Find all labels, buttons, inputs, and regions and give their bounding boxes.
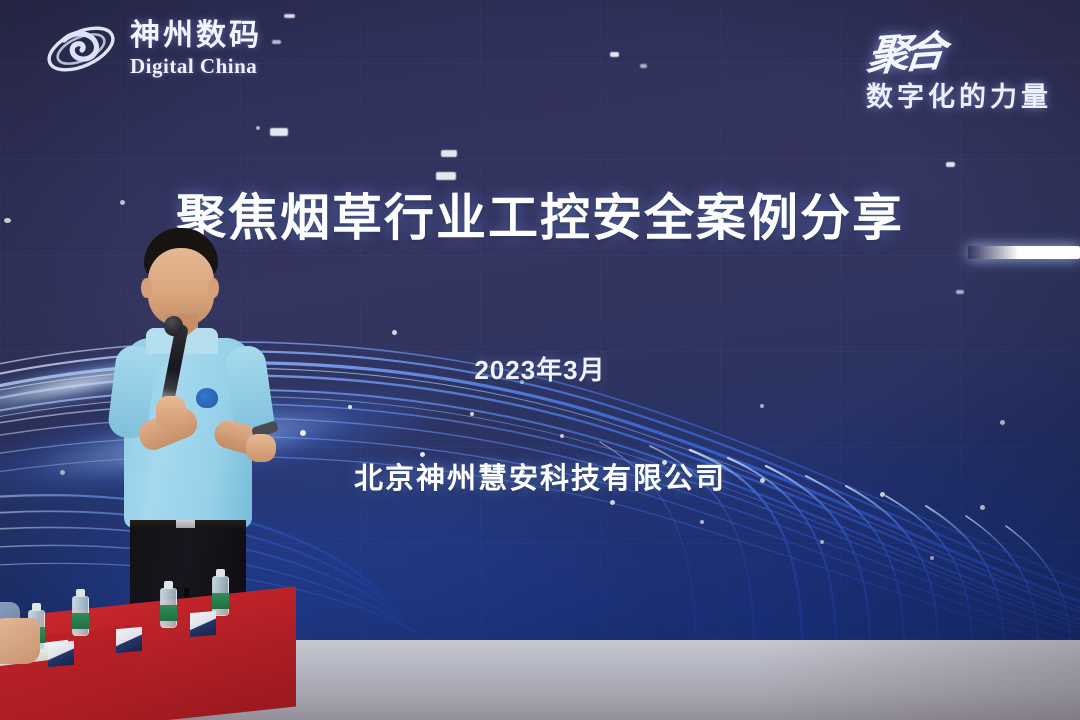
speaker-hand-right: [246, 434, 276, 462]
foreground-table: [0, 560, 294, 720]
decorative-streak: [968, 246, 1080, 259]
digital-china-logo: 神州数码 Digital China: [44, 18, 262, 80]
brand-name-cn: 神州数码: [130, 21, 262, 51]
bottle-cap: [216, 569, 225, 577]
bottle-label: [212, 593, 229, 609]
speaker-ear-right: [208, 278, 219, 298]
name-card: [190, 611, 216, 637]
attendee-hand: [0, 618, 40, 664]
speaker-ear-left: [141, 278, 152, 298]
water-bottle: [72, 596, 89, 636]
speaker-hand-left: [156, 396, 186, 430]
bottle-label: [160, 605, 177, 621]
bottle-cap: [76, 589, 85, 597]
brand-name-en: Digital China: [130, 56, 262, 77]
bottle-cap: [164, 581, 173, 589]
water-bottle: [160, 588, 177, 628]
digital-china-wordmark: 神州数码 Digital China: [130, 21, 262, 77]
name-card: [48, 641, 74, 667]
event-slogan-logo: 聚合 数字化的力量: [866, 20, 1052, 114]
bottle-label: [72, 613, 89, 629]
digital-china-swirl-icon: [44, 18, 118, 80]
name-card: [116, 627, 142, 653]
event-script-mark: 聚合: [864, 18, 943, 84]
company-emblem-icon: [196, 388, 218, 408]
bottle-cap: [32, 603, 41, 611]
conference-stage-photo: 神州数码 Digital China 聚合 数字化的力量 聚焦烟草行业工控安全案…: [0, 0, 1080, 720]
